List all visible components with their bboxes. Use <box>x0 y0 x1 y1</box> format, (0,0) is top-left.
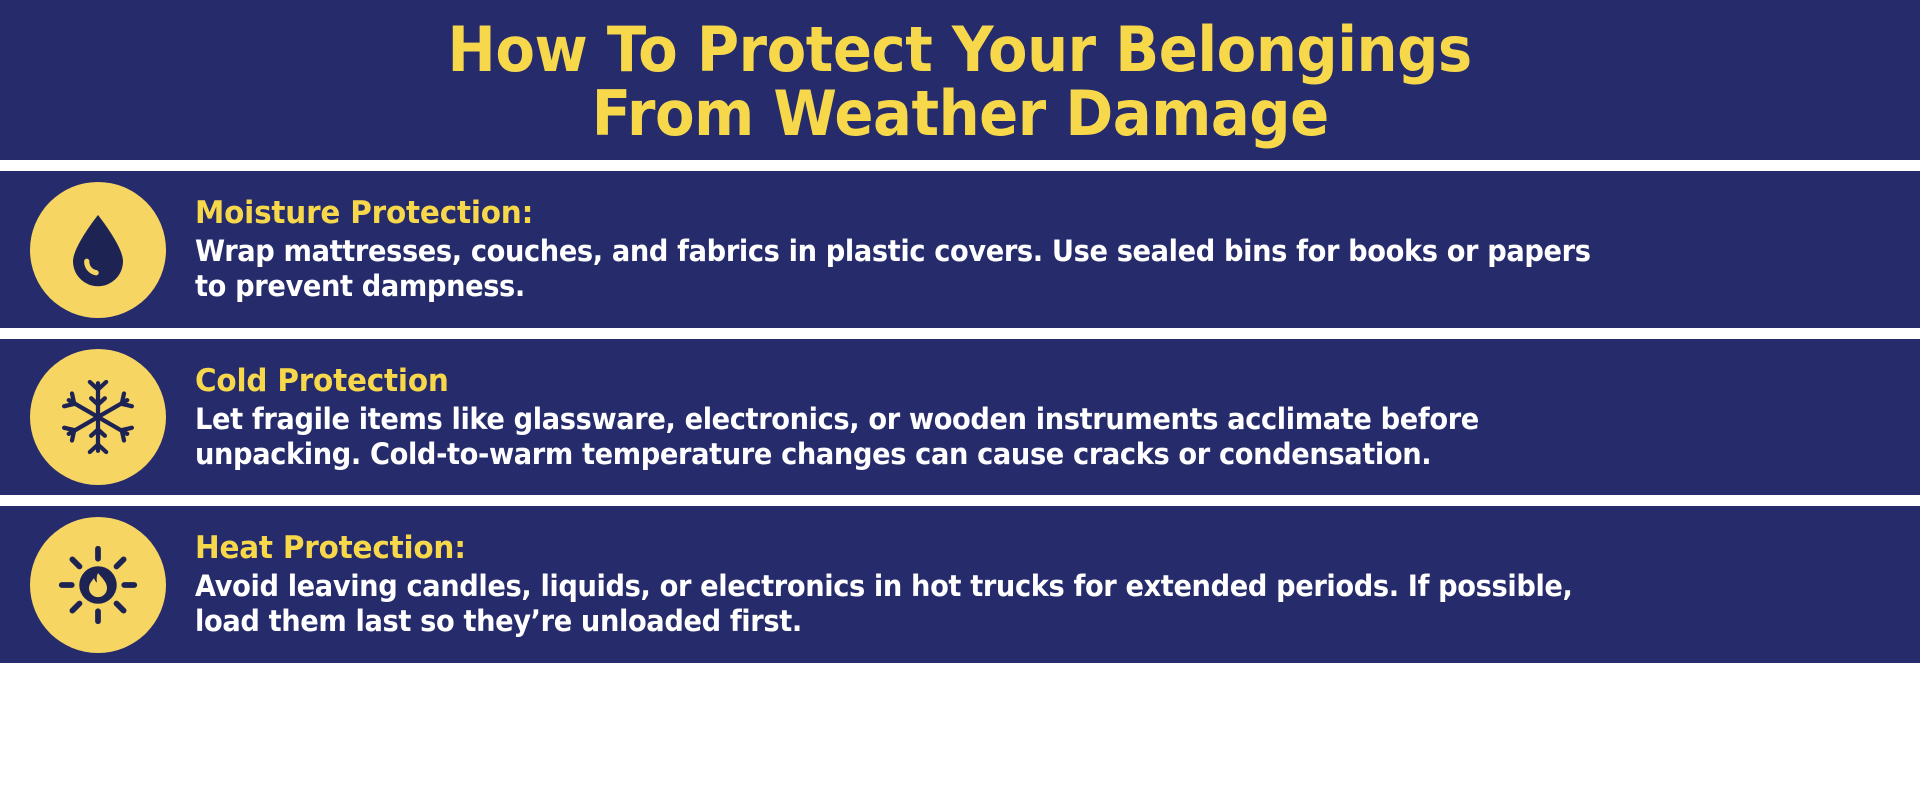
sun-flame-icon <box>58 545 138 625</box>
body-line: Wrap mattresses, couches, and fabrics in… <box>195 234 1788 269</box>
tip-row-cold: Cold Protection Let fragile items like g… <box>0 339 1920 495</box>
body-line: Let fragile items like glassware, electr… <box>195 402 1788 437</box>
water-droplet-icon <box>58 210 138 290</box>
separator-bar-1 <box>0 160 1920 171</box>
icon-container-moisture <box>0 182 195 318</box>
weather-damage-infographic: How To Protect Your Belongings From Weat… <box>0 0 1920 794</box>
icon-circle-heat <box>30 517 166 653</box>
separator-bar-3 <box>0 495 1920 506</box>
body-line: unpacking. Cold-to-warm temperature chan… <box>195 437 1788 472</box>
title-band: How To Protect Your Belongings From Weat… <box>0 0 1920 160</box>
tip-row-moisture: Moisture Protection: Wrap mattresses, co… <box>0 171 1920 328</box>
text-container-cold: Cold Protection Let fragile items like g… <box>195 363 1920 472</box>
heading-heat: Heat Protection: <box>195 530 1805 566</box>
tip-row-heat: Heat Protection: Avoid leaving candles, … <box>0 506 1920 663</box>
body-line: load them last so they’re unloaded first… <box>195 604 1788 639</box>
body-line: to prevent dampness. <box>195 269 1788 304</box>
body-cold: Let fragile items like glassware, electr… <box>195 402 1788 472</box>
body-heat: Avoid leaving candles, liquids, or elect… <box>195 569 1788 639</box>
body-line: Avoid leaving candles, liquids, or elect… <box>195 569 1788 604</box>
heading-cold: Cold Protection <box>195 363 1805 399</box>
text-container-moisture: Moisture Protection: Wrap mattresses, co… <box>195 195 1920 304</box>
body-moisture: Wrap mattresses, couches, and fabrics in… <box>195 234 1788 304</box>
separator-bar-2 <box>0 328 1920 339</box>
text-container-heat: Heat Protection: Avoid leaving candles, … <box>195 530 1920 639</box>
page-title-line-1: How To Protect Your Belongings <box>448 18 1472 82</box>
heading-moisture: Moisture Protection: <box>195 195 1805 231</box>
icon-circle-cold <box>30 349 166 485</box>
icon-container-cold <box>0 349 195 485</box>
icon-circle-moisture <box>30 182 166 318</box>
page-title-line-2: From Weather Damage <box>591 82 1328 146</box>
snowflake-icon <box>58 377 138 457</box>
separator-bar-bottom <box>0 663 1920 794</box>
icon-container-heat <box>0 517 195 653</box>
